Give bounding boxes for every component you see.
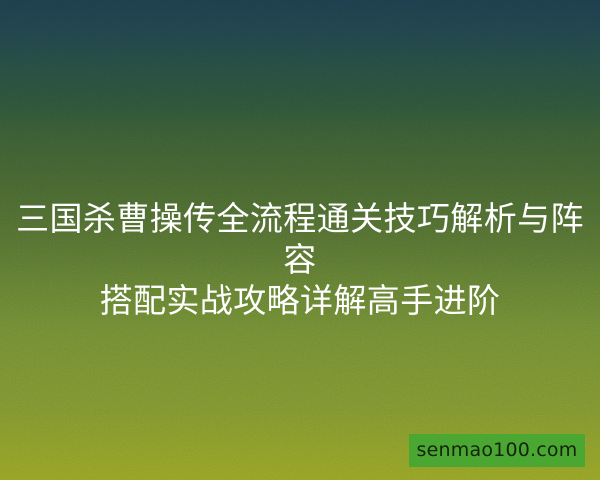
watermark-badge: senmao100.com <box>409 434 585 467</box>
watermark-url-text: senmao100.com <box>417 441 578 460</box>
page-title: 三国杀曹操传全流程通关技巧解析与阵容 搭配实战攻略详解高手进阶 <box>0 198 600 321</box>
banner-image: 三国杀曹操传全流程通关技巧解析与阵容 搭配实战攻略详解高手进阶 senmao10… <box>0 0 600 480</box>
